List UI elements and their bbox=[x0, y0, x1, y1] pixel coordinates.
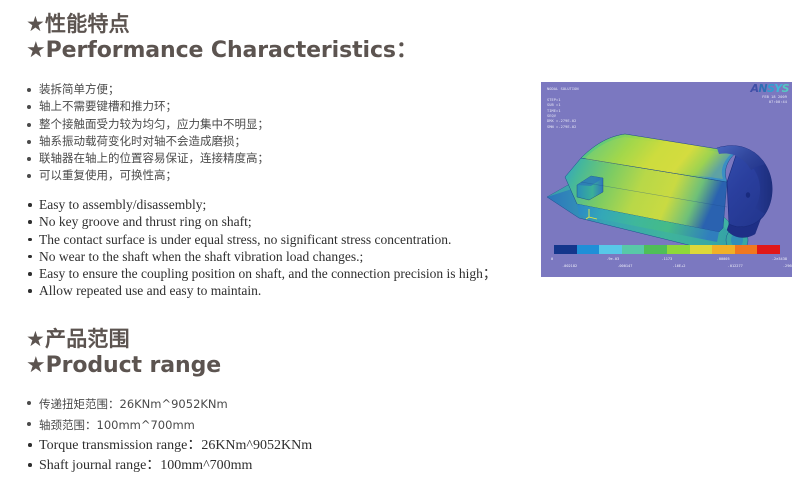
bullet-list-product-range-en: Torque transmission range：26KNm^9052KNm … bbox=[26, 436, 446, 476]
ansys-logo-letter-y: Y bbox=[774, 82, 781, 95]
list-item: Shaft journal range：100mm^700mm bbox=[26, 456, 446, 476]
legend-swatch bbox=[644, 245, 667, 254]
heading-cn-performance: ★性能特点 bbox=[26, 12, 418, 37]
document-page: ★性能特点 ★Performance Characteristics： 装拆简单… bbox=[0, 0, 811, 477]
section-heading-product-range: ★产品范围 ★Product range bbox=[26, 327, 221, 379]
legend-labels-upper: 0 .9e-03 .1173 .00005 .2e3438 bbox=[551, 257, 787, 261]
legend-label: .296E+1 bbox=[783, 264, 792, 268]
legend-label: .002182 bbox=[562, 264, 617, 268]
ansys-simulation-figure: NODAL SOLUTION STEP=1 SUB =1 TIME=1 SEQV… bbox=[541, 82, 792, 277]
list-item: 可以重复使用，可换性高； bbox=[26, 167, 506, 184]
list-item: The contact surface is under equal stres… bbox=[26, 231, 546, 248]
list-item: 装拆简单方便； bbox=[26, 81, 506, 98]
legend-label: .012277 bbox=[728, 264, 783, 268]
legend-label: .1173 bbox=[661, 257, 716, 261]
list-item: 轴系振动载荷变化时对轴不会造成磨损； bbox=[26, 133, 506, 150]
heading-cn-product-range: ★产品范围 bbox=[26, 327, 221, 352]
legend-labels-lower: .002182 .000147 .16E+2 .012277 .296E+1 bbox=[551, 264, 792, 268]
list-item: Allow repeated use and easy to maintain. bbox=[26, 282, 546, 299]
list-item: Torque transmission range：26KNm^9052KNm bbox=[26, 436, 446, 456]
legend-swatch bbox=[735, 245, 758, 254]
bullet-list-product-range-cn: 传递扭矩范围：26KNm^9052KNm 轴颈范围：100mm^700mm bbox=[26, 394, 426, 436]
list-item: 轴上不需要键槽和推力环； bbox=[26, 98, 506, 115]
ansys-annotation-right: FEB 18 2009 07:00:44 bbox=[762, 95, 787, 106]
legend-label: .00005 bbox=[717, 257, 772, 261]
legend-label: .16E+2 bbox=[672, 264, 727, 268]
legend-swatch bbox=[667, 245, 690, 254]
list-item: 传递扭矩范围：26KNm^9052KNm bbox=[26, 394, 426, 415]
legend-swatch bbox=[690, 245, 713, 254]
legend-label: .2e3438 bbox=[772, 257, 787, 261]
legend-swatch bbox=[712, 245, 735, 254]
legend-label: 0 bbox=[551, 257, 606, 261]
heading-en-performance: ★Performance Characteristics： bbox=[26, 37, 418, 64]
legend-swatch bbox=[622, 245, 645, 254]
legend-swatch bbox=[577, 245, 600, 254]
list-item: 联轴器在轴上的位置容易保证，连接精度高； bbox=[26, 150, 506, 167]
list-item: No wear to the shaft when the shaft vibr… bbox=[26, 248, 546, 265]
legend-swatch bbox=[599, 245, 622, 254]
list-item: 整个接触面受力较为均匀，应力集中不明显； bbox=[26, 116, 506, 133]
list-item: No key groove and thrust ring on shaft; bbox=[26, 213, 546, 230]
list-item: 轴颈范围：100mm^700mm bbox=[26, 415, 426, 436]
ansys-logo: ANSYS bbox=[750, 83, 789, 94]
list-item: Easy to assembly/disassembly; bbox=[26, 196, 546, 213]
ansys-logo-letter-s2: S bbox=[782, 82, 789, 95]
ansys-logo-letter-n: N bbox=[758, 82, 767, 95]
coordinate-triad-icon bbox=[585, 208, 599, 220]
bullet-list-performance-cn: 装拆简单方便； 轴上不需要键槽和推力环； 整个接触面受力较为均匀，应力集中不明显… bbox=[26, 81, 506, 185]
ansys-annotation-left: NODAL SOLUTION STEP=1 SUB =1 TIME=1 SEQV… bbox=[547, 87, 579, 130]
legend-swatch bbox=[554, 245, 577, 254]
heading-en-product-range: ★Product range bbox=[26, 352, 221, 379]
section-heading-performance: ★性能特点 ★Performance Characteristics： bbox=[26, 12, 418, 64]
legend-label: .000147 bbox=[617, 264, 672, 268]
list-item: Easy to ensure the coupling position on … bbox=[26, 265, 546, 282]
contour-legend-colorbar bbox=[554, 245, 780, 254]
legend-label: .9e-03 bbox=[606, 257, 661, 261]
legend-swatch bbox=[757, 245, 780, 254]
bullet-list-performance-en: Easy to assembly/disassembly; No key gro… bbox=[26, 196, 546, 300]
